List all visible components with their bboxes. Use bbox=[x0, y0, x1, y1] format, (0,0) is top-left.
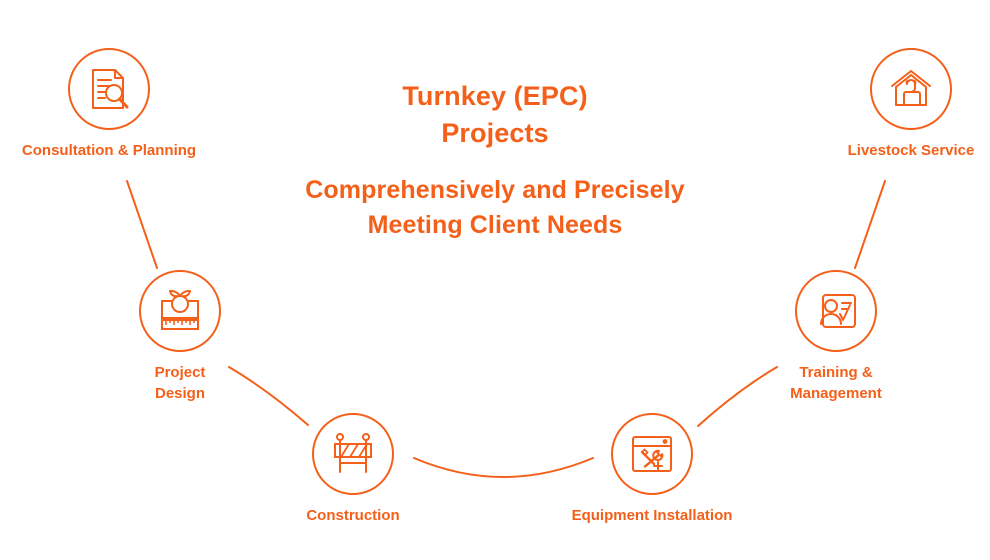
center-subtitle-line-1: Comprehensively and Precisely bbox=[275, 173, 715, 209]
node-label-training-management: Training & Management bbox=[736, 362, 936, 405]
node-label-equipment-installation: Equipment Installation bbox=[552, 505, 752, 526]
center-subtitle-line-2: Meeting Client Needs bbox=[275, 208, 715, 244]
node-label-consultation-planning: Consultation & Planning bbox=[9, 140, 209, 161]
node-consultation-planning[interactable]: Consultation & Planning bbox=[9, 48, 209, 161]
node-circle-equipment-installation[interactable] bbox=[611, 413, 693, 495]
node-equipment-installation[interactable]: Equipment Installation bbox=[552, 413, 752, 526]
connector-line-1 bbox=[127, 181, 157, 268]
center-subtitle: Comprehensively and Precisely Meeting Cl… bbox=[275, 173, 715, 244]
node-label-project-design: Project Design bbox=[80, 362, 280, 405]
node-label-construction: Construction bbox=[253, 505, 453, 526]
document-magnifier-icon bbox=[85, 65, 133, 113]
node-circle-construction[interactable] bbox=[312, 413, 394, 495]
node-circle-livestock-service[interactable] bbox=[870, 48, 952, 130]
person-card-check-icon bbox=[812, 287, 860, 335]
node-training-management[interactable]: Training & Management bbox=[736, 270, 936, 405]
fruit-ruler-design-icon bbox=[156, 287, 204, 335]
node-construction[interactable]: Construction bbox=[253, 413, 453, 526]
center-heading-block: Turnkey (EPC) Projects Comprehensively a… bbox=[275, 78, 715, 244]
road-barrier-icon bbox=[329, 430, 377, 478]
node-label-livestock-service: Livestock Service bbox=[811, 140, 990, 161]
node-circle-training-management[interactable] bbox=[795, 270, 877, 352]
node-livestock-service[interactable]: Livestock Service bbox=[811, 48, 990, 161]
center-title-line-1: Turnkey (EPC) bbox=[275, 78, 715, 115]
node-circle-consultation-planning[interactable] bbox=[68, 48, 150, 130]
center-title-line-2: Projects bbox=[275, 115, 715, 152]
epc-process-diagram: Turnkey (EPC) Projects Comprehensively a… bbox=[0, 0, 990, 560]
connector-line-5 bbox=[855, 181, 885, 268]
node-circle-project-design[interactable] bbox=[139, 270, 221, 352]
barn-animal-icon bbox=[887, 65, 935, 113]
window-tools-icon bbox=[628, 430, 676, 478]
node-project-design[interactable]: Project Design bbox=[80, 270, 280, 405]
center-title: Turnkey (EPC) Projects bbox=[275, 78, 715, 153]
